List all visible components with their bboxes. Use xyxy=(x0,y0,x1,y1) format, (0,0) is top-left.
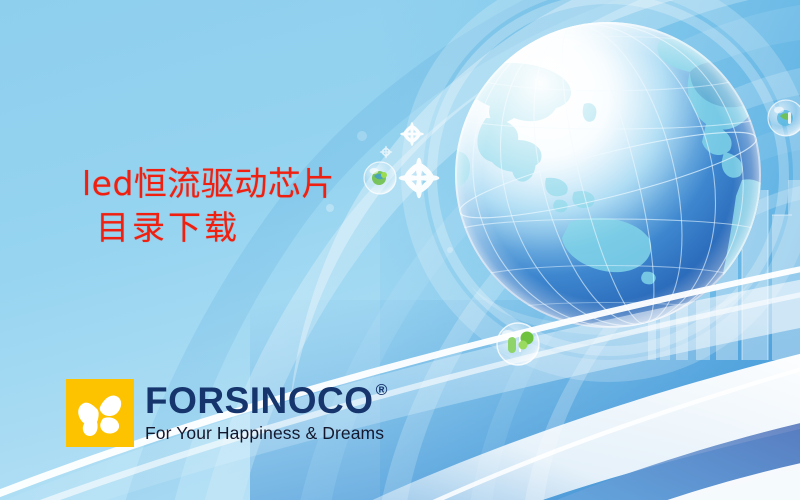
headline-line-1: led恒流驱动芯片 xyxy=(82,162,335,206)
registered-trademark-icon: ® xyxy=(376,383,388,399)
logo-wordmark-text: FORSINOCO xyxy=(145,382,374,419)
headline-text: led恒流驱动芯片 目录下载 xyxy=(82,162,335,249)
bubble-green-globe-icon xyxy=(364,162,396,194)
bubble-edge-globe-icon xyxy=(768,100,800,136)
headline-line-2: 目录下载 xyxy=(82,206,335,250)
bubble-green-sprout-icon xyxy=(497,323,539,365)
marketing-banner: led恒流驱动芯片 目录下载 FORSINOCO ® For Your Happ… xyxy=(0,0,800,500)
company-logo: FORSINOCO ® For Your Happiness & Dreams xyxy=(66,379,388,447)
logo-tagline: For Your Happiness & Dreams xyxy=(145,423,388,444)
starburst-icon xyxy=(380,122,440,198)
pinwheel-flower-icon xyxy=(66,379,134,447)
bubble-speck-icon xyxy=(447,247,453,253)
logo-wordmark: FORSINOCO ® xyxy=(145,382,388,419)
logo-text-block: FORSINOCO ® For Your Happiness & Dreams xyxy=(145,379,388,444)
bubble-speck-icon xyxy=(357,131,367,141)
